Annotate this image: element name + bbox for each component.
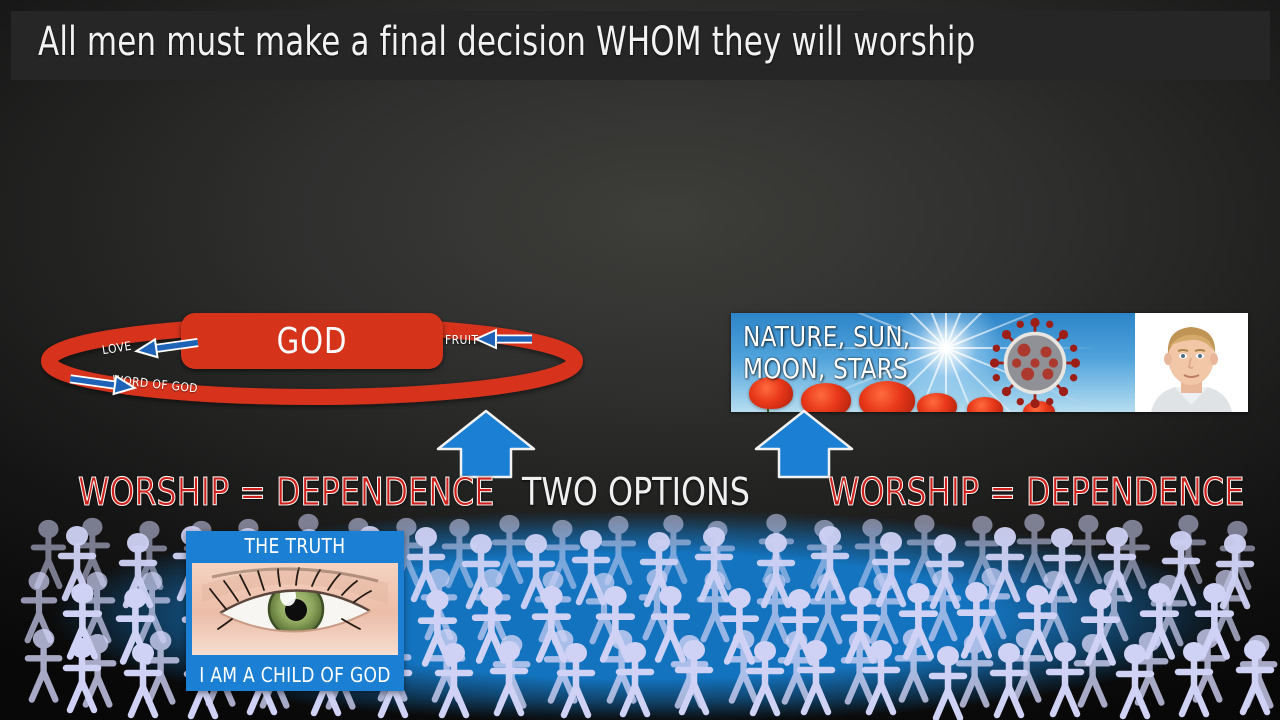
love-arrow <box>135 334 199 360</box>
person-figure <box>861 638 901 716</box>
headline-worship-left: WORSHIP = DEPENDENCE <box>78 470 494 514</box>
truth-card-header: THE TRUTH <box>191 531 398 561</box>
person-figure <box>745 639 785 717</box>
person-figure <box>489 639 529 717</box>
person-figure <box>1115 642 1155 720</box>
truth-card: THE TRUTH <box>186 531 404 691</box>
person-figure <box>556 641 596 719</box>
god-diagram: GOD LOVE WORD OF GOD F <box>40 305 585 410</box>
word-of-god-arrow <box>69 370 136 397</box>
truth-card-footer: I AM A CHILD OF GOD <box>191 659 398 691</box>
poppy-flower <box>917 393 957 412</box>
ring-arrows <box>40 305 585 410</box>
person-figure <box>615 640 655 718</box>
person-figure <box>1235 638 1275 716</box>
person-figure <box>1174 640 1214 718</box>
person-figure <box>123 641 163 719</box>
creation-caption: NATURE, SUN, MOON, STARS <box>743 321 910 385</box>
person-figure <box>796 638 836 716</box>
slide-canvas: All men must make a final decision WHOM … <box>0 0 1280 720</box>
coronavirus-image <box>989 317 1081 409</box>
person-figure <box>434 641 474 719</box>
person-figure <box>24 627 63 703</box>
person-figure <box>928 644 968 720</box>
page-title: All men must make a final decision WHOM … <box>38 16 1079 68</box>
person-figure <box>989 641 1029 719</box>
headline-two-options: TWO OPTIONS <box>522 470 750 514</box>
poppy-flower <box>859 381 915 412</box>
person-figure <box>62 636 102 714</box>
person-figure <box>674 638 714 716</box>
fruit-arrow <box>476 330 532 348</box>
man-portrait <box>1135 313 1248 412</box>
creation-panel: NATURE, SUN, MOON, STARS <box>731 313 1248 412</box>
person-figure <box>1045 640 1085 718</box>
headline-worship-right: WORSHIP = DEPENDENCE <box>828 470 1244 514</box>
green-eye-image <box>192 563 398 655</box>
